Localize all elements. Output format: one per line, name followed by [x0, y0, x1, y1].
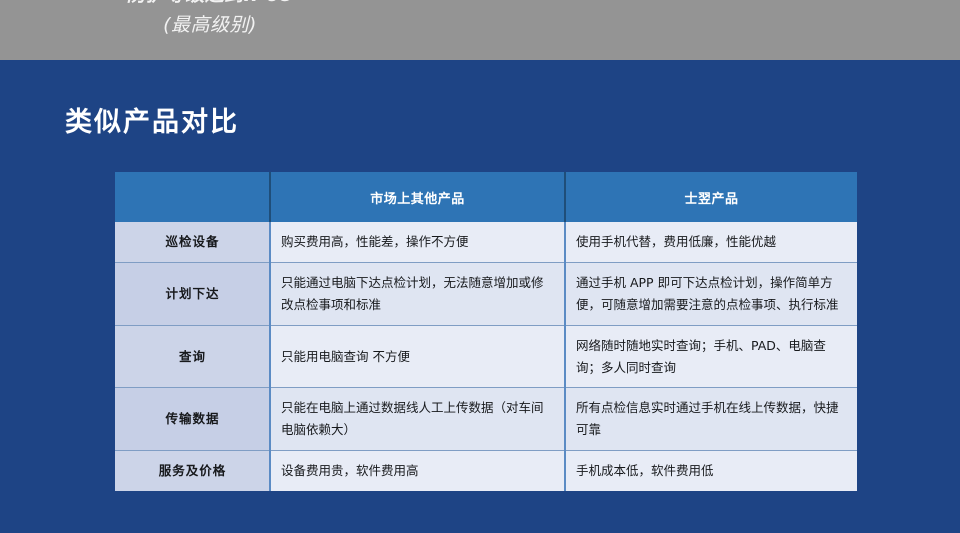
slide-page: 防护等级达到IP68 (最高级别) 类似产品对比 市场上其他产品 士翌产品 巡检… [0, 0, 960, 533]
cell-ours: 所有点检信息实时通过手机在线上传数据，快捷可靠 [565, 388, 857, 451]
comparison-table-wrapper: 市场上其他产品 士翌产品 巡检设备 购买费用高，性能差，操作不方便 使用手机代替… [115, 172, 857, 491]
column-header-ours: 士翌产品 [565, 172, 857, 222]
cell-others: 只能用电脑查询 不方便 [270, 325, 565, 388]
top-band-text: 防护等级达到IP68 (最高级别) [0, 0, 420, 40]
cell-others: 只能通过电脑下达点检计划，无法随意增加或修改点检事项和标准 [270, 262, 565, 325]
page-title: 类似产品对比 [65, 100, 239, 139]
row-label: 计划下达 [115, 262, 270, 325]
cell-ours: 通过手机 APP 即可下达点检计划，操作简单方便，可随意增加需要注意的点检事项、… [565, 262, 857, 325]
table-row: 巡检设备 购买费用高，性能差，操作不方便 使用手机代替，费用低廉，性能优越 [115, 222, 857, 262]
table-head: 市场上其他产品 士翌产品 [115, 172, 857, 222]
cell-others: 购买费用高，性能差，操作不方便 [270, 222, 565, 262]
top-band-line1: 防护等级达到IP68 [127, 0, 293, 6]
cell-ours: 手机成本低，软件费用低 [565, 451, 857, 491]
row-label: 传输数据 [115, 388, 270, 451]
row-label: 查询 [115, 325, 270, 388]
comparison-table: 市场上其他产品 士翌产品 巡检设备 购买费用高，性能差，操作不方便 使用手机代替… [115, 172, 857, 491]
top-grey-band: 防护等级达到IP68 (最高级别) [0, 0, 960, 60]
cell-ours: 网络随时随地实时查询；手机、PAD、电脑查询；多人同时查询 [565, 325, 857, 388]
table-body: 巡检设备 购买费用高，性能差，操作不方便 使用手机代替，费用低廉，性能优越 计划… [115, 222, 857, 491]
table-row: 服务及价格 设备费用贵，软件费用高 手机成本低，软件费用低 [115, 451, 857, 491]
column-header-others: 市场上其他产品 [270, 172, 565, 222]
table-row: 计划下达 只能通过电脑下达点检计划，无法随意增加或修改点检事项和标准 通过手机 … [115, 262, 857, 325]
table-row: 传输数据 只能在电脑上通过数据线人工上传数据（对车间电脑依赖大） 所有点检信息实… [115, 388, 857, 451]
row-label: 巡检设备 [115, 222, 270, 262]
cell-ours: 使用手机代替，费用低廉，性能优越 [565, 222, 857, 262]
top-band-line2: (最高级别) [0, 10, 420, 40]
cell-others: 设备费用贵，软件费用高 [270, 451, 565, 491]
cell-others: 只能在电脑上通过数据线人工上传数据（对车间电脑依赖大） [270, 388, 565, 451]
table-row: 查询 只能用电脑查询 不方便 网络随时随地实时查询；手机、PAD、电脑查询；多人… [115, 325, 857, 388]
column-header-blank [115, 172, 270, 222]
table-header-row: 市场上其他产品 士翌产品 [115, 172, 857, 222]
row-label: 服务及价格 [115, 451, 270, 491]
